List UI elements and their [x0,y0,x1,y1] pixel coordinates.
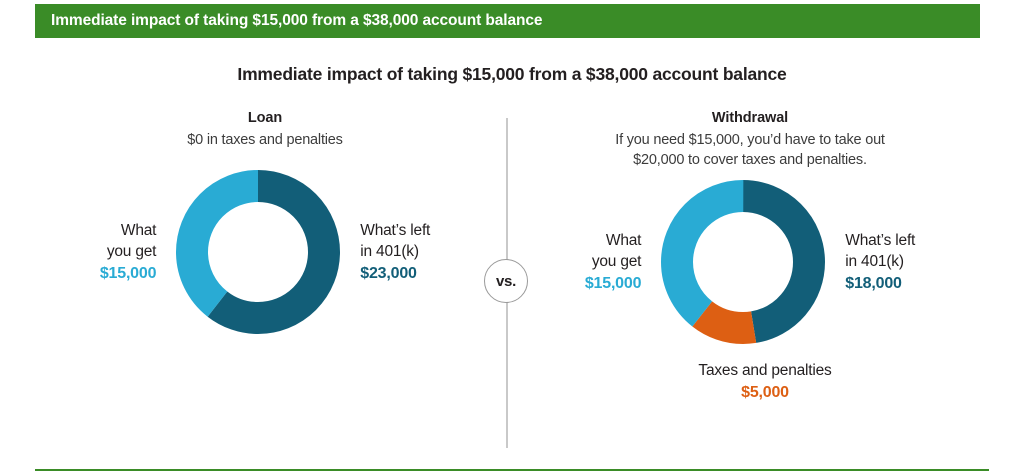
loan-left-label-line2: you get [100,241,156,262]
panel-withdrawal-subtitle-line1: If you need $15,000, you’d have to take … [520,130,980,150]
loan-right-label: What’s left in 401(k) $23,000 [360,220,430,284]
withdrawal-taxes-label-text: Taxes and penalties [550,360,980,381]
loan-what-you-get-amount: $15,000 [100,263,156,284]
withdrawal-right-label-line2: in 401(k) [845,251,915,272]
withdrawal-right-label-line1: What’s left [845,230,915,251]
panel-loan-heading: Loan [40,110,490,126]
loan-donut-row: What you get $15,000 What’s left in 401(… [40,164,490,340]
loan-right-label-line1: What’s left [360,220,430,241]
withdrawal-left-label: What you get $15,000 [585,230,641,294]
footer-rule [35,469,989,471]
withdrawal-left-label-line1: What [585,230,641,251]
withdrawal-donut-chart [655,174,831,350]
withdrawal-left-label-line2: you get [585,251,641,272]
loan-left-label-line1: What [100,220,156,241]
vs-badge-label: vs. [496,273,516,290]
panel-withdrawal-subtitle: If you need $15,000, you’d have to take … [520,130,980,170]
loan-left-label: What you get $15,000 [100,220,156,284]
withdrawal-whats-left-amount: $18,000 [845,273,915,294]
panel-loan: Loan $0 in taxes and penalties What you … [40,110,490,340]
withdrawal-taxes-amount: $5,000 [550,382,980,403]
withdrawal-what-you-get-amount: $15,000 [585,273,641,294]
header-banner: Immediate impact of taking $15,000 from … [35,4,980,38]
loan-donut-chart [170,164,346,340]
withdrawal-taxes-label: Taxes and penalties $5,000 [550,360,980,403]
panel-withdrawal-heading: Withdrawal [520,110,980,126]
chart-title: Immediate impact of taking $15,000 from … [0,64,1024,85]
withdrawal-donut-svg [655,174,831,350]
withdrawal-donut-row: What you get $15,000 What’s left in 401(… [520,174,980,350]
panel-withdrawal-subtitle-line2: $20,000 to cover taxes and penalties. [520,150,980,170]
withdrawal-right-label: What’s left in 401(k) $18,000 [845,230,915,294]
loan-donut-svg [170,164,346,340]
loan-right-label-line2: in 401(k) [360,241,430,262]
panel-loan-subtitle: $0 in taxes and penalties [40,130,490,150]
loan-whats-left-amount: $23,000 [360,263,430,284]
header-banner-title: Immediate impact of taking $15,000 from … [51,12,542,30]
panel-withdrawal: Withdrawal If you need $15,000, you’d ha… [520,110,980,403]
